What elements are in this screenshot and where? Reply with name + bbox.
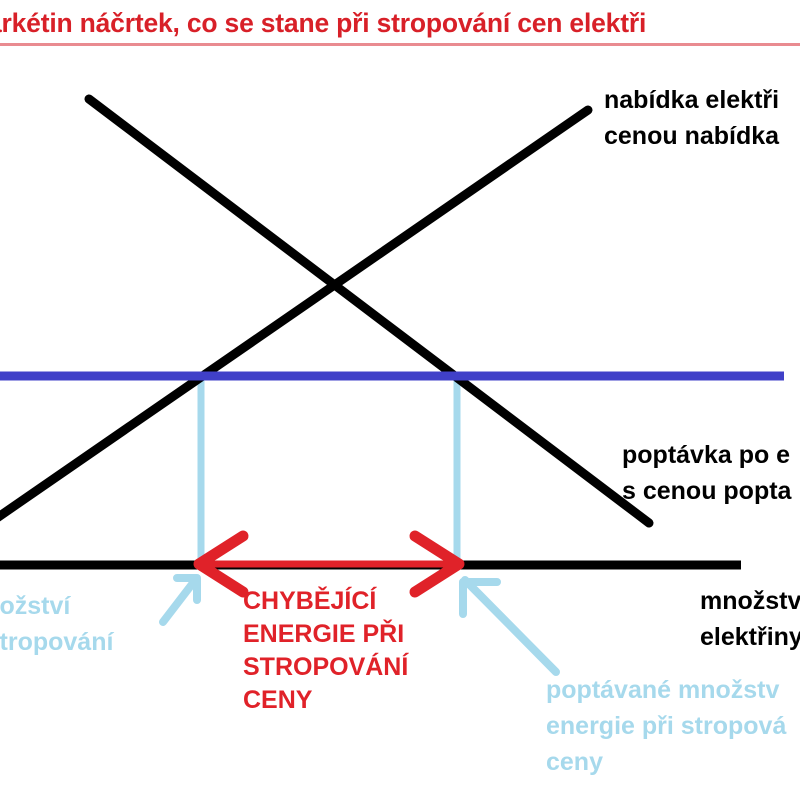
supplied-quantity-annotation-line2: ři stropování bbox=[0, 624, 113, 660]
demand-curve bbox=[89, 99, 649, 523]
supplied-quantity-annotation-text: množství ři stropování bbox=[0, 588, 113, 660]
shortage-annotation-line3: STROPOVÁNÍ bbox=[243, 651, 408, 684]
supplied-quantity-annotation: množství ři stropování bbox=[0, 588, 185, 662]
supply-curve-label-line2: cenou nabídka bbox=[604, 118, 779, 154]
shortage-annotation-line2: ENERGIE PŘI bbox=[243, 618, 408, 651]
demanded-quantity-annotation-line1: poptávané množstv bbox=[546, 672, 786, 708]
shortage-annotation-line4: CENY bbox=[243, 684, 408, 717]
x-axis-label: množství elektřiny bbox=[700, 583, 800, 655]
x-axis-label-line2: elektřiny bbox=[700, 619, 800, 655]
supplied-quantity-annotation-line1: množství bbox=[0, 588, 113, 624]
demand-curve-label-line2: s cenou popta bbox=[622, 473, 791, 509]
demanded-quantity-annotation: poptávané množstv energie při stropová c… bbox=[546, 672, 786, 780]
demanded-quantity-annotation-line3: ceny bbox=[546, 744, 786, 780]
demand-curve-label: poptávka po e s cenou popta bbox=[622, 437, 791, 509]
supply-curve-label: nabídka elektři cenou nabídka bbox=[604, 82, 779, 154]
demanded-quantity-pointer-arrow bbox=[463, 580, 556, 672]
demand-curve-label-line1: poptávka po e bbox=[622, 437, 791, 473]
shortage-double-arrow bbox=[199, 536, 459, 592]
shortage-annotation-line1: CHYBĚJÍCÍ bbox=[243, 585, 408, 618]
supply-curve bbox=[0, 110, 588, 520]
shortage-annotation: CHYBĚJÍCÍ ENERGIE PŘI STROPOVÁNÍ CENY bbox=[243, 585, 408, 717]
diagram-canvas: atický Markétin náčrtek, co se stane při… bbox=[0, 0, 800, 800]
x-axis-label-line1: množství bbox=[700, 583, 800, 619]
supply-curve-label-line1: nabídka elektři bbox=[604, 82, 779, 118]
demanded-quantity-annotation-line2: energie při stropová bbox=[546, 708, 786, 744]
